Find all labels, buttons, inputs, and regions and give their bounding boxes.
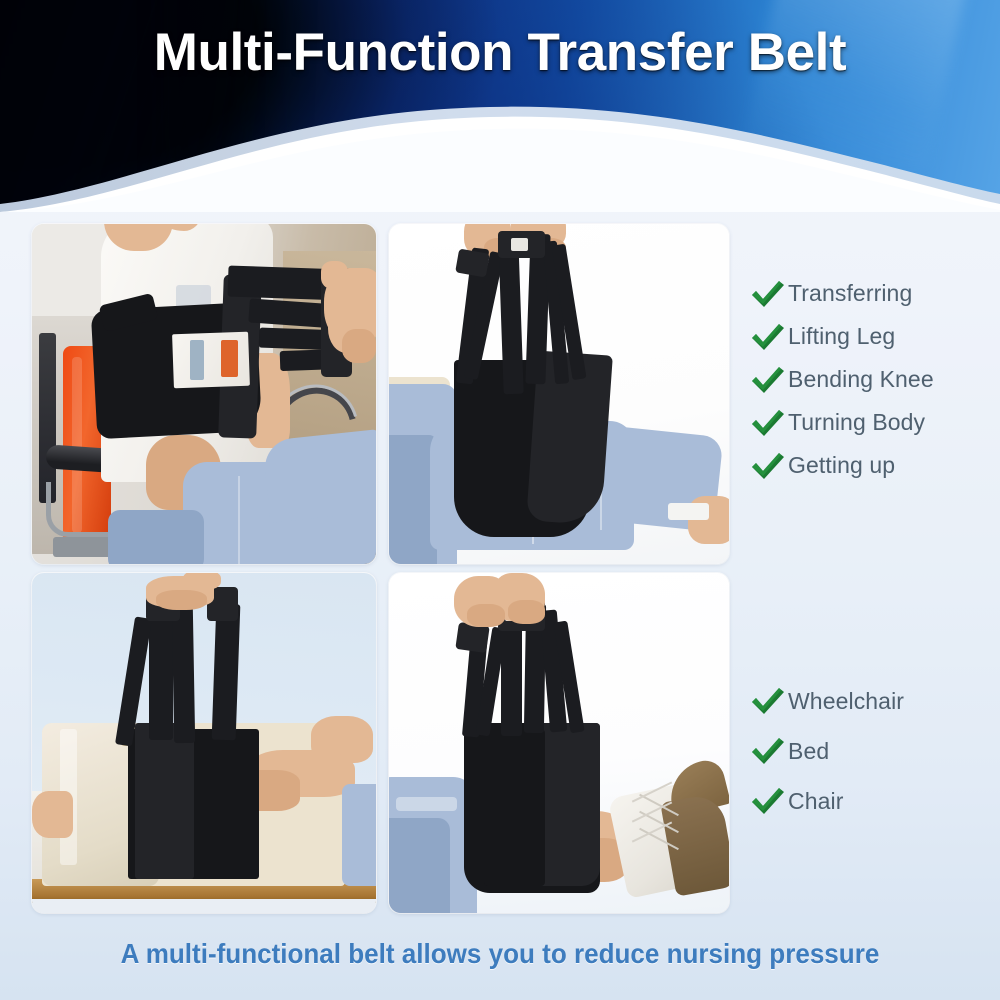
list-item-label: Turning Body bbox=[788, 409, 925, 436]
check-icon bbox=[748, 364, 788, 396]
photo-canvas bbox=[32, 224, 376, 564]
list-item: Transferring bbox=[748, 272, 996, 315]
photo-leg-lift-sling bbox=[389, 224, 729, 564]
list-item: Chair bbox=[748, 776, 996, 826]
list-item: Turning Body bbox=[748, 401, 996, 444]
feature-list-secondary: Wheelchair Bed Chair bbox=[748, 676, 996, 826]
list-item: Lifting Leg bbox=[748, 315, 996, 358]
check-icon bbox=[748, 407, 788, 439]
photo-bed-transfer bbox=[32, 573, 376, 913]
list-item-label: Chair bbox=[788, 788, 843, 815]
list-item-label: Getting up bbox=[788, 452, 895, 479]
photo-wheelchair-transfer bbox=[32, 224, 376, 564]
photo-canvas bbox=[32, 573, 376, 913]
page-title: Multi-Function Transfer Belt bbox=[0, 22, 1000, 83]
list-item-label: Wheelchair bbox=[788, 688, 904, 715]
list-item-label: Transferring bbox=[788, 280, 912, 307]
check-icon bbox=[748, 321, 788, 353]
list-item-label: Bending Knee bbox=[788, 366, 934, 393]
list-item-label: Lifting Leg bbox=[788, 323, 895, 350]
check-icon bbox=[748, 685, 788, 717]
list-item: Wheelchair bbox=[748, 676, 996, 726]
check-icon bbox=[748, 278, 788, 310]
photo-canvas bbox=[389, 573, 729, 913]
product-infographic: Multi-Function Transfer Belt bbox=[0, 0, 1000, 1000]
photo-canvas bbox=[389, 224, 729, 564]
bottom-caption: A multi-functional belt allows you to re… bbox=[35, 938, 965, 970]
list-item-label: Bed bbox=[788, 738, 829, 765]
header-banner: Multi-Function Transfer Belt bbox=[0, 0, 1000, 212]
feature-list-primary: Transferring Lifting Leg Bending Knee bbox=[748, 272, 996, 487]
list-item: Bending Knee bbox=[748, 358, 996, 401]
check-icon bbox=[748, 735, 788, 767]
check-icon bbox=[748, 450, 788, 482]
banner-wave-divider bbox=[0, 72, 1000, 212]
check-icon bbox=[748, 785, 788, 817]
photo-leg-lift-shoe bbox=[389, 573, 729, 913]
list-item: Getting up bbox=[748, 444, 996, 487]
list-item: Bed bbox=[748, 726, 996, 776]
